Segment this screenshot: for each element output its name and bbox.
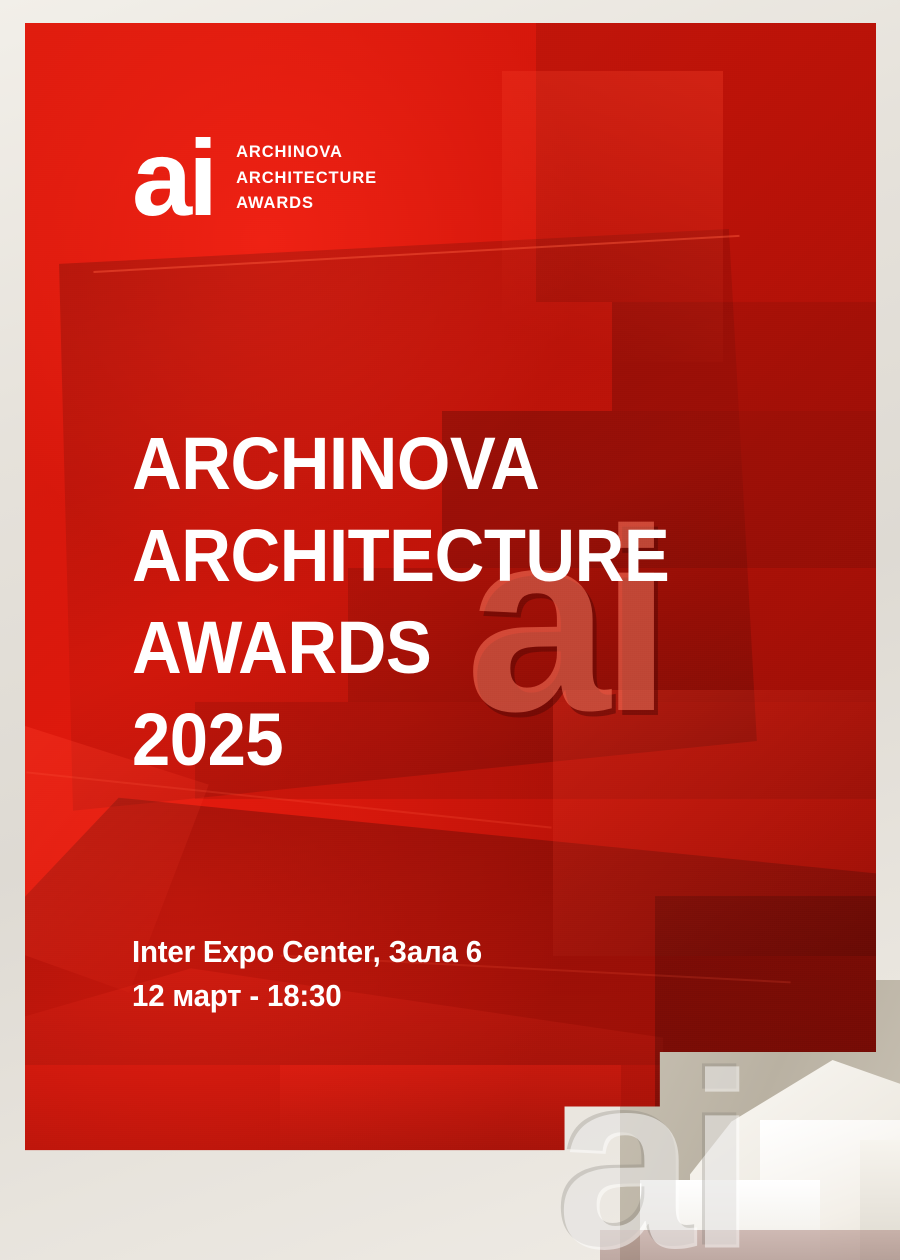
event-datetime: 12 март - 18:30 [132,974,482,1018]
event-details: Inter Expo Center, Зала 6 12 март - 18:3… [132,930,500,1018]
ai-monogram-icon: ai [132,130,214,226]
headline-year: 2025 [132,694,669,786]
headline-line: ARCHITECTURE [132,510,669,602]
logo-word-line: AWARDS [236,195,377,212]
event-venue: Inter Expo Center, Зала 6 [132,930,482,974]
page-title: ARCHINOVA ARCHITECTURE AWARDS 2025 [132,418,710,786]
logo-word-line: ARCHINOVA [236,144,377,161]
headline-line: AWARDS [132,602,669,694]
poster-root: ai ai ai ARCHINOVA ARCHITECTURE AWARDS [0,0,900,1260]
headline-line: ARCHINOVA [132,418,669,510]
logo-lockup: ai ARCHINOVA ARCHITECTURE AWARDS [132,130,377,226]
poster-content: ai ARCHINOVA ARCHITECTURE AWARDS ARCHINO… [0,0,900,1260]
logo-word-line: ARCHITECTURE [236,170,377,187]
logo-wordmark: ARCHINOVA ARCHITECTURE AWARDS [236,130,377,212]
